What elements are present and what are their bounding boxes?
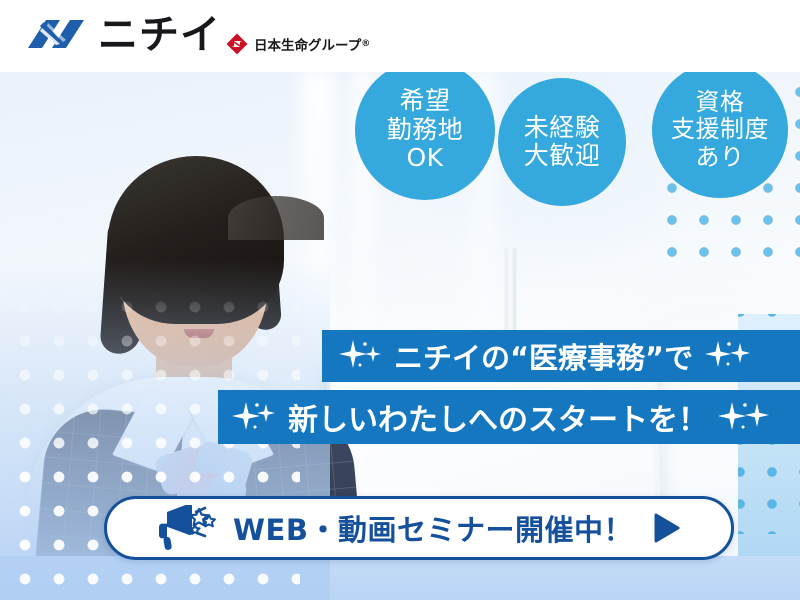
sparkle-icon xyxy=(716,396,772,438)
nichii-n-mark-icon xyxy=(26,14,90,56)
headline-text-line2: 新しいわたしへのスタートを！ xyxy=(280,395,716,439)
brand-name: ニチイ xyxy=(98,14,221,56)
badge-line: 資格 xyxy=(696,89,745,116)
play-triangle-icon[interactable] xyxy=(649,511,683,545)
recruitment-banner-ad: ニチイ 日本生命グループ ® xyxy=(0,0,800,600)
sparkle-icon xyxy=(230,396,280,438)
badge-qualification-support: 資格 支援制度 あり xyxy=(652,62,788,198)
sparkle-icon xyxy=(701,336,755,376)
nissay-group-name: 日本生命グループ xyxy=(254,34,361,54)
nissay-group-logo: 日本生命グループ ® xyxy=(226,33,370,55)
badge-line: 大歓迎 xyxy=(524,142,601,171)
headline-banner-line1: ニチイの“医療事務”で xyxy=(322,330,800,382)
registered-mark: ® xyxy=(361,39,370,49)
headline-text-line1: ニチイの“医療事務”で xyxy=(386,335,701,377)
badge-line: OK xyxy=(406,144,443,173)
cta-label: WEB・動画セミナー開催中！ xyxy=(233,507,633,549)
header-bar: ニチイ 日本生命グループ ® xyxy=(0,0,800,72)
badge-line: 未経験 xyxy=(524,114,601,143)
badge-desired-worksite: 希望 勤務地 OK xyxy=(355,60,495,200)
badge-line: 希望 xyxy=(399,87,450,116)
seminar-cta-button[interactable]: WEB・動画セミナー開催中！ xyxy=(104,496,734,560)
badge-line: 勤務地 xyxy=(387,116,464,145)
badge-line: あり xyxy=(696,144,745,171)
nissay-diamond-icon xyxy=(226,33,248,55)
headline-banner-line2: 新しいわたしへのスタートを！ xyxy=(218,390,800,444)
sparkle-icon xyxy=(336,336,386,376)
badge-no-experience: 未経験 大歓迎 xyxy=(498,78,626,206)
badge-line: 支援制度 xyxy=(671,116,769,143)
megaphone-icon xyxy=(155,505,217,551)
brand-logo[interactable]: ニチイ xyxy=(26,14,221,56)
